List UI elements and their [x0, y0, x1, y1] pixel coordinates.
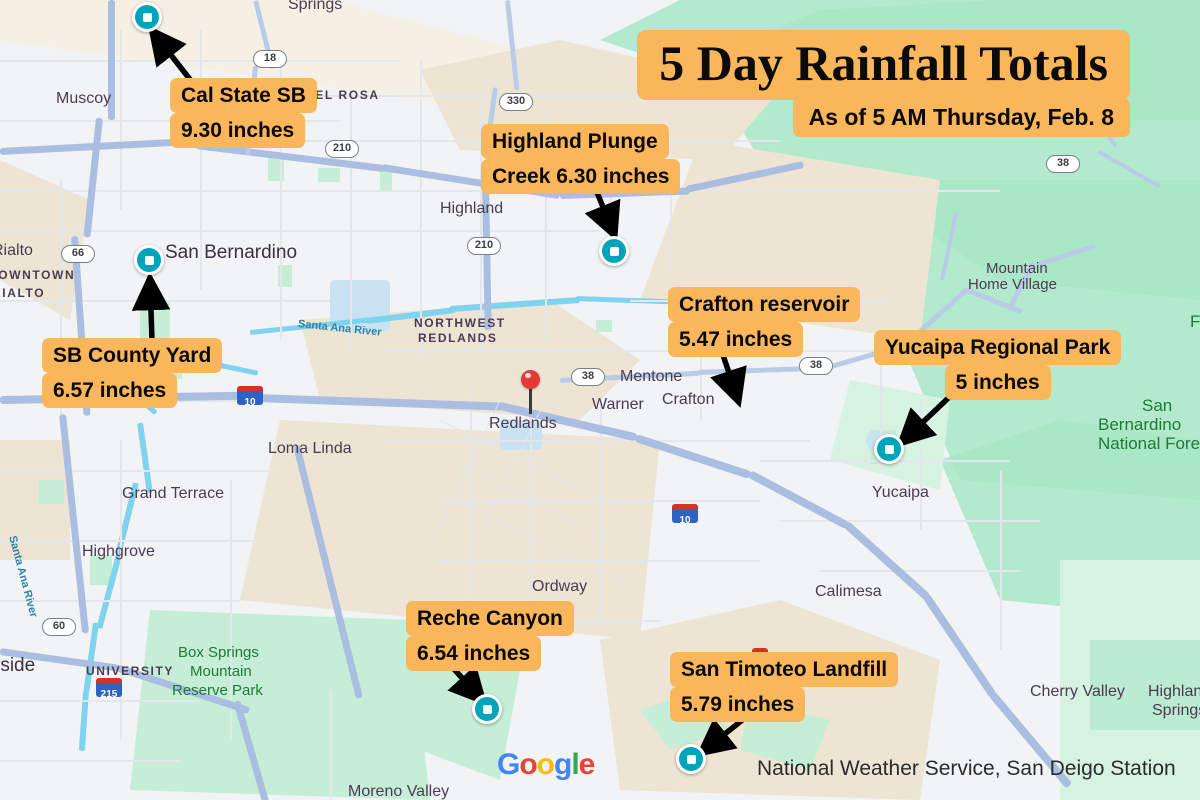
callout-line-1: Reche Canyon — [406, 601, 574, 636]
google-logo: Google — [497, 748, 594, 782]
callout-line-1: Crafton reservoir — [668, 287, 860, 322]
marker-disc — [602, 239, 626, 263]
callout-crafton-reservoir: Crafton reservoir 5.47 inches — [668, 287, 860, 357]
callout-reche-canyon: Reche Canyon 6.54 inches — [406, 601, 574, 671]
marker-square — [610, 247, 619, 256]
callout-san-timoteo-landfill: San Timoteo Landfill 5.79 inches — [670, 652, 898, 722]
callout-line-2: 9.30 inches — [170, 113, 305, 148]
marker-disc — [877, 437, 901, 461]
page-subtitle: As of 5 AM Thursday, Feb. 8 — [793, 98, 1130, 137]
place-pin-redlands[interactable] — [521, 370, 541, 416]
station-marker-cal-state-sb[interactable] — [132, 2, 162, 32]
callout-cal-state-sb: Cal State SB 9.30 inches — [170, 78, 317, 148]
marker-square — [145, 256, 154, 265]
google-letter-e: e — [579, 748, 595, 782]
marker-disc — [679, 747, 703, 771]
callout-line-2: 5.47 inches — [668, 322, 803, 357]
callout-line-1: Yucaipa Regional Park — [874, 330, 1121, 365]
station-marker-yucaipa-regional-park[interactable] — [874, 434, 904, 464]
google-letter-g: G — [497, 748, 519, 782]
station-marker-reche-canyon[interactable] — [472, 694, 502, 724]
google-letter-o1: o — [519, 748, 536, 782]
source-credit: National Weather Service, San Deigo Stat… — [757, 757, 1176, 781]
marker-disc — [135, 5, 159, 29]
page-title: 5 Day Rainfall Totals — [637, 30, 1130, 100]
callout-line-1: San Timoteo Landfill — [670, 652, 898, 687]
pin-highlight — [525, 373, 531, 378]
google-letter-l: l — [571, 748, 578, 782]
callout-sb-county-yard: SB County Yard 6.57 inches — [42, 338, 222, 408]
title-block: 5 Day Rainfall Totals As of 5 AM Thursda… — [630, 30, 1130, 137]
marker-square — [143, 13, 152, 22]
pin-head — [521, 370, 540, 389]
station-marker-sb-county-yard[interactable] — [134, 245, 164, 275]
callout-line-1: Cal State SB — [170, 78, 317, 113]
callout-line-1: SB County Yard — [42, 338, 222, 373]
rainfall-totals-map: Springs Muscoy DEL ROSA Highland San Ber… — [0, 0, 1200, 800]
callout-line-2: Creek 6.30 inches — [481, 159, 680, 194]
callout-line-2: 6.54 inches — [406, 636, 541, 671]
station-marker-highland-plunge-creek[interactable] — [599, 236, 629, 266]
callout-line-2: 6.57 inches — [42, 373, 177, 408]
marker-disc — [137, 248, 161, 272]
marker-square — [885, 445, 894, 454]
google-letter-g2: g — [554, 748, 571, 782]
callout-line-2: 5.79 inches — [670, 687, 805, 722]
marker-square — [483, 705, 492, 714]
callout-yucaipa-regional-park: Yucaipa Regional Park 5 inches — [874, 330, 1121, 400]
callout-line-2: 5 inches — [945, 365, 1051, 400]
marker-square — [687, 755, 696, 764]
station-marker-san-timoteo-landfill[interactable] — [676, 744, 706, 774]
marker-disc — [475, 697, 499, 721]
google-letter-o2: o — [537, 748, 554, 782]
